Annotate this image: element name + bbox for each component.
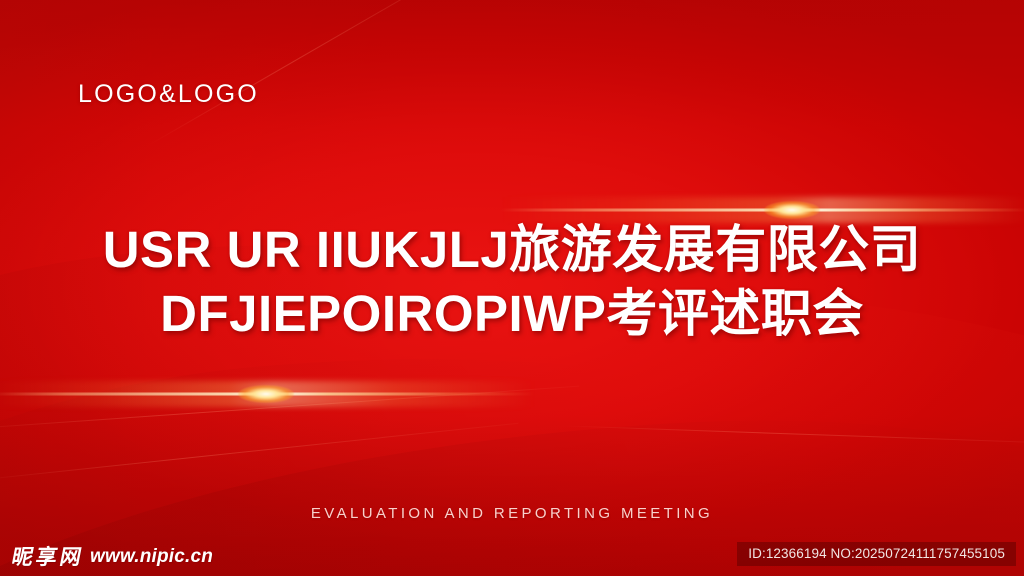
logo-text: LOGO&LOGO — [78, 82, 259, 107]
watermark-brand-char-3: 网 — [58, 547, 83, 568]
watermark: 昵 享 网 www.nipic.cn — [12, 546, 213, 568]
watermark-brand-char-1: 昵 — [10, 547, 35, 568]
title-line-1: USR UR IIUKJLJ旅游发展有限公司 — [0, 218, 1024, 282]
watermark-brand-logo: 昵 享 网 — [12, 547, 81, 568]
title-line-2: DFJIEPOIROPIWP考评述职会 — [0, 282, 1024, 346]
subtitle-text: EVALUATION AND REPORTING MEETING — [0, 505, 1024, 522]
watermark-url: www.nipic.cn — [90, 546, 213, 568]
poster-canvas: LOGO&LOGO USR UR IIUKJLJ旅游发展有限公司 DFJIEPO… — [0, 0, 1024, 576]
title-block: USR UR IIUKJLJ旅游发展有限公司 DFJIEPOIROPIWP考评述… — [0, 218, 1024, 346]
watermark-brand-char-2: 享 — [34, 547, 59, 568]
image-id-badge: ID:12366194 NO:20250724111757455105 — [737, 542, 1016, 566]
